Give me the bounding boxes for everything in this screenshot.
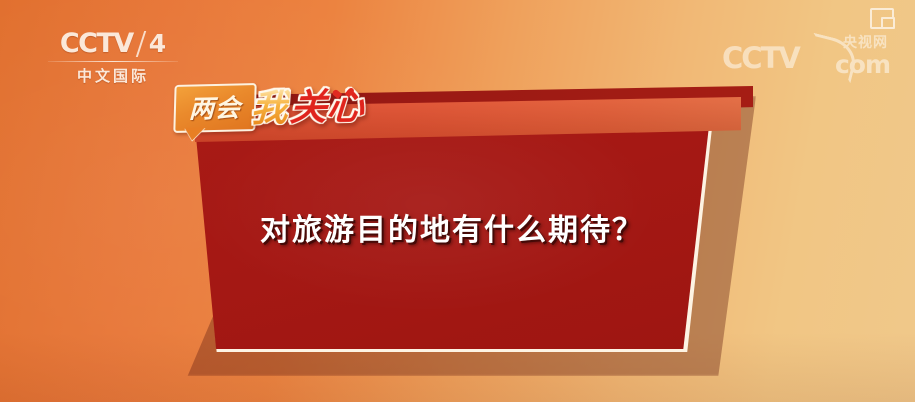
- cctv-wordmark: CCTV: [60, 30, 133, 57]
- cctv-logo-row: CCTV 4: [46, 30, 180, 57]
- watermark-cn-text: 央视网: [843, 36, 888, 50]
- badge-word-gold: 我: [249, 89, 291, 127]
- badge-bubble-tail: [184, 127, 205, 141]
- cctv-channel-logo: CCTV 4 中文国际: [46, 30, 180, 86]
- cctv-com-watermark: CCTV 央视网 com: [722, 36, 890, 78]
- badge-word-red: 关心: [288, 87, 367, 126]
- badge-bubble: 两会: [173, 83, 256, 133]
- broadcast-screen: 对旅游目的地有什么期待？ 两会 我 关心 CCTV 4 中文国际 CCTV 央视…: [0, 0, 915, 402]
- question-text: 对旅游目的地有什么期待？: [195, 205, 709, 249]
- pip-inner-frame: [881, 17, 895, 29]
- cctv-logo-rule: [48, 61, 178, 62]
- heart-icon: [338, 89, 349, 100]
- cctv-slash-divider: [136, 31, 146, 57]
- watermark-wordmark: CCTV: [722, 44, 799, 73]
- cctv-channel-subtitle: 中文国际: [46, 65, 180, 86]
- cctv-channel-number: 4: [149, 31, 166, 56]
- program-title-badge: 两会 我 关心: [174, 84, 365, 136]
- badge-words: 我 关心: [248, 83, 366, 131]
- picture-in-picture-icon[interactable]: [870, 8, 896, 30]
- badge-bubble-text: 两会: [189, 95, 242, 121]
- watermark-com-text: com: [835, 52, 890, 77]
